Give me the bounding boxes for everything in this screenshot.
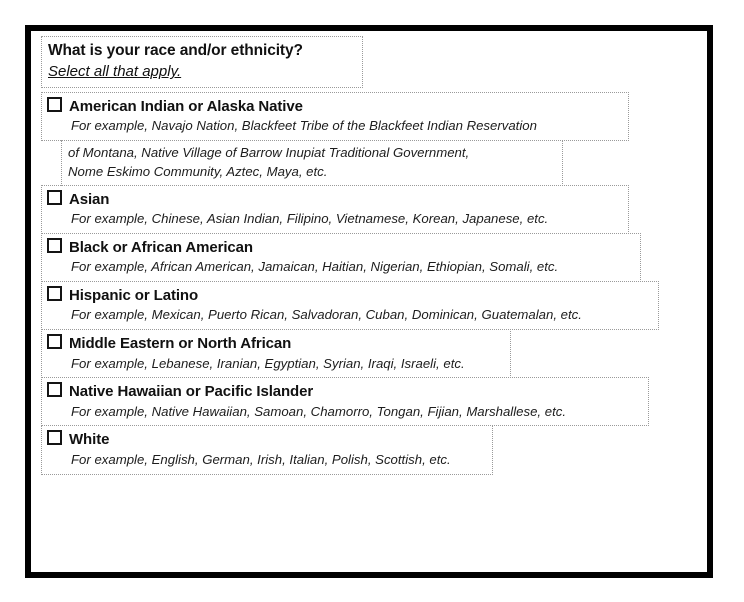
option-label: Middle Eastern or North African bbox=[69, 335, 291, 352]
options-list: American Indian or Alaska NativeFor exam… bbox=[41, 92, 701, 475]
option-example-text: For example, Native Hawaiian, Samoan, Ch… bbox=[71, 403, 641, 422]
option-4[interactable]: Hispanic or LatinoFor example, Mexican, … bbox=[41, 281, 659, 330]
option-example-text: For example, Navajo Nation, Blackfeet Tr… bbox=[71, 117, 621, 136]
form-body: What is your race and/or ethnicity? Sele… bbox=[41, 36, 701, 568]
form-frame: What is your race and/or ethnicity? Sele… bbox=[25, 25, 713, 578]
option-header: Hispanic or Latino bbox=[47, 286, 651, 305]
page-title: What is your race and/or ethnicity? bbox=[48, 41, 356, 60]
option-1[interactable]: American Indian or Alaska NativeFor exam… bbox=[41, 92, 629, 141]
checkbox-icon[interactable] bbox=[47, 286, 62, 301]
option-example-text: For example, Lebanese, Iranian, Egyptian… bbox=[71, 355, 503, 374]
option-example-text: For example, Mexican, Puerto Rican, Salv… bbox=[71, 306, 651, 325]
option-example-text: For example, African American, Jamaican,… bbox=[71, 258, 633, 277]
option-label: White bbox=[69, 431, 109, 448]
option-label: Black or African American bbox=[69, 239, 253, 256]
option-label: Hispanic or Latino bbox=[69, 287, 198, 304]
option-example-line: Nome Eskimo Community, Aztec, Maya, etc. bbox=[68, 162, 555, 181]
option-header: Middle Eastern or North African bbox=[47, 334, 503, 353]
checkbox-icon[interactable] bbox=[47, 238, 62, 253]
option-header: Asian bbox=[47, 190, 621, 209]
option-label: Native Hawaiian or Pacific Islander bbox=[69, 383, 313, 400]
option-label: Asian bbox=[69, 191, 109, 208]
option-example-line: of Montana, Native Village of Barrow Inu… bbox=[68, 143, 555, 162]
option-row: WhiteFor example, English, German, Irish… bbox=[41, 425, 701, 474]
checkbox-icon[interactable] bbox=[47, 334, 62, 349]
checkbox-icon[interactable] bbox=[47, 430, 62, 445]
option-row: Middle Eastern or North AfricanFor examp… bbox=[41, 329, 701, 378]
option-example-continuation: of Montana, Native Village of Barrow Inu… bbox=[61, 140, 563, 186]
option-header: Black or African American bbox=[47, 238, 633, 257]
option-label: American Indian or Alaska Native bbox=[69, 98, 303, 115]
checkbox-icon[interactable] bbox=[47, 97, 62, 112]
option-7[interactable]: WhiteFor example, English, German, Irish… bbox=[41, 425, 493, 474]
option-example-text: For example, Chinese, Asian Indian, Fili… bbox=[71, 210, 621, 229]
option-row: American Indian or Alaska NativeFor exam… bbox=[41, 92, 701, 186]
option-header: Native Hawaiian or Pacific Islander bbox=[47, 382, 641, 401]
option-example-text: For example, English, German, Irish, Ita… bbox=[71, 451, 485, 470]
option-row: Native Hawaiian or Pacific IslanderFor e… bbox=[41, 377, 701, 426]
question-instruction: Select all that apply. bbox=[48, 62, 356, 82]
option-3[interactable]: Black or African AmericanFor example, Af… bbox=[41, 233, 641, 282]
checkbox-icon[interactable] bbox=[47, 190, 62, 205]
option-row: AsianFor example, Chinese, Asian Indian,… bbox=[41, 185, 701, 234]
option-6[interactable]: Native Hawaiian or Pacific IslanderFor e… bbox=[41, 377, 649, 426]
checkbox-icon[interactable] bbox=[47, 382, 62, 397]
option-2[interactable]: AsianFor example, Chinese, Asian Indian,… bbox=[41, 185, 629, 234]
option-5[interactable]: Middle Eastern or North AfricanFor examp… bbox=[41, 329, 511, 378]
option-header: White bbox=[47, 430, 485, 449]
option-header: American Indian or Alaska Native bbox=[47, 97, 621, 116]
question-header: What is your race and/or ethnicity? Sele… bbox=[41, 36, 363, 88]
option-row: Black or African AmericanFor example, Af… bbox=[41, 233, 701, 282]
option-row: Hispanic or LatinoFor example, Mexican, … bbox=[41, 281, 701, 330]
